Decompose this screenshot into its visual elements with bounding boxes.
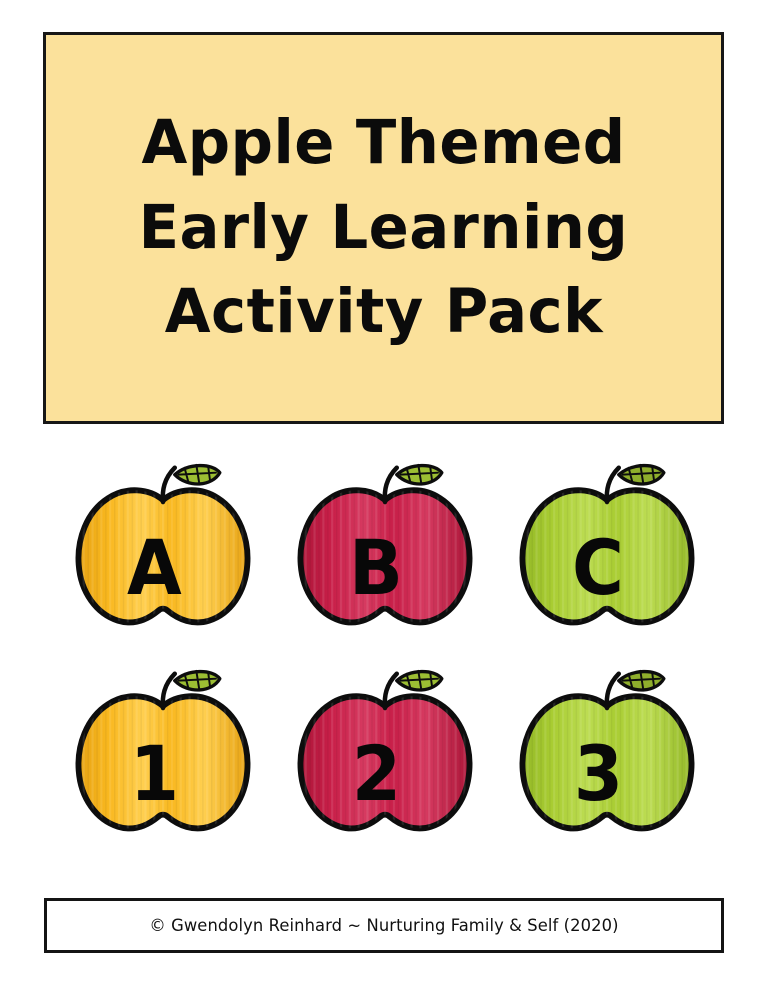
copyright-text: © Gwendolyn Reinhard ~ Nurturing Family … (149, 916, 618, 935)
cover-page: Apple Themed Early Learning Activity Pac… (0, 0, 768, 994)
apple-illustration (287, 457, 483, 653)
apple-card-2[interactable]: 2 (274, 658, 496, 864)
apple-illustration (509, 457, 705, 653)
apple-card-3[interactable]: 3 (496, 658, 718, 864)
apple-card-1[interactable]: 1 (52, 658, 274, 864)
apple-illustration (65, 457, 261, 653)
apple-texture (522, 696, 691, 828)
apple-texture (522, 490, 691, 622)
apple-grid: A B (52, 452, 718, 864)
copyright-footer: © Gwendolyn Reinhard ~ Nurturing Family … (44, 898, 724, 953)
apple-illustration (65, 663, 261, 859)
apple-texture (78, 696, 247, 828)
apple-card-c[interactable]: C (496, 452, 718, 658)
title-banner: Apple Themed Early Learning Activity Pac… (43, 32, 724, 424)
apple-illustration (509, 663, 705, 859)
apple-card-b[interactable]: B (274, 452, 496, 658)
apple-texture (300, 696, 469, 828)
title-line-1: Apple Themed (141, 103, 625, 184)
apple-illustration (287, 663, 483, 859)
apple-card-a[interactable]: A (52, 452, 274, 658)
apple-texture (78, 490, 247, 622)
title-line-3: Activity Pack (164, 272, 602, 353)
apple-texture (300, 490, 469, 622)
title-line-2: Early Learning (139, 188, 629, 269)
